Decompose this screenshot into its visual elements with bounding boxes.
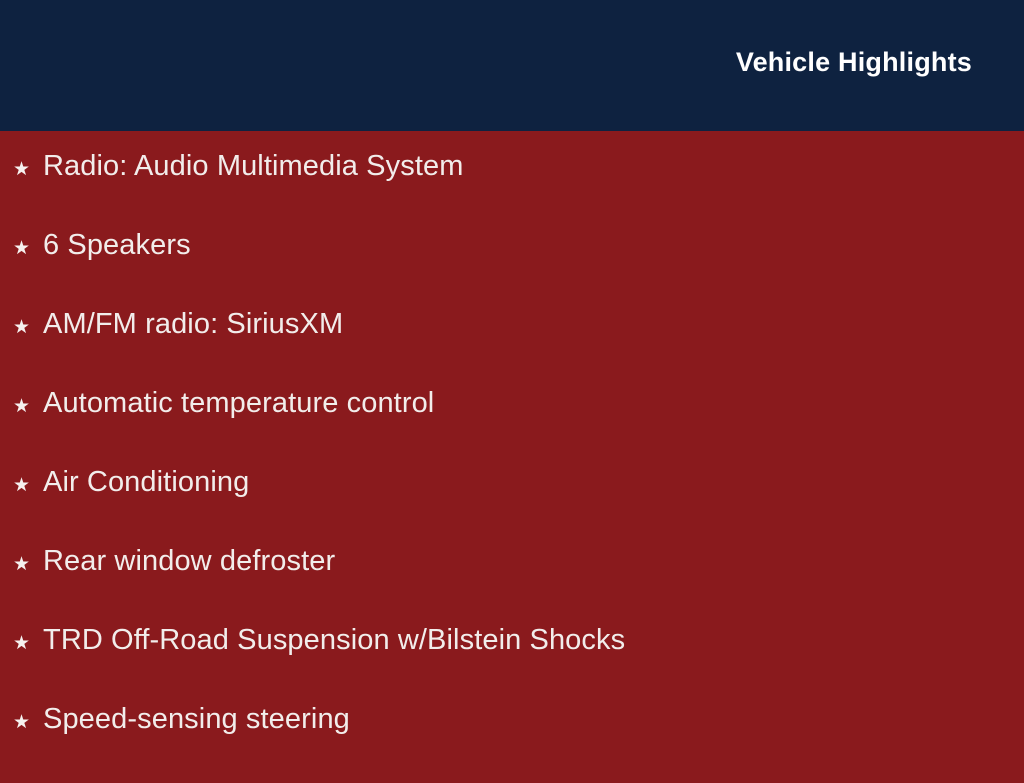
list-item-label: Air Conditioning bbox=[43, 467, 249, 497]
star-icon: ★ bbox=[13, 629, 43, 659]
slide-vehicle-highlights: Vehicle Highlights ★ Radio: Audio Multim… bbox=[0, 0, 1024, 768]
vehicle-highlights-list: ★ Radio: Audio Multimedia System ★ 6 Spe… bbox=[0, 151, 1024, 783]
list-item: ★ 6 Speakers bbox=[0, 230, 1024, 309]
list-item: ★ Air Conditioning bbox=[0, 467, 1024, 546]
list-item: ★ Radio: Audio Multimedia System bbox=[0, 151, 1024, 230]
list-item: ★ AM/FM radio: SiriusXM bbox=[0, 309, 1024, 388]
star-icon: ★ bbox=[13, 550, 43, 580]
list-item-label: Rear window defroster bbox=[43, 546, 335, 576]
list-item-label: AM/FM radio: SiriusXM bbox=[43, 309, 343, 339]
list-item: ★ Rear window defroster bbox=[0, 546, 1024, 625]
star-icon: ★ bbox=[13, 708, 43, 738]
star-icon: ★ bbox=[13, 471, 43, 501]
slide-body: ★ Radio: Audio Multimedia System ★ 6 Spe… bbox=[0, 131, 1024, 768]
list-item-label: 6 Speakers bbox=[43, 230, 191, 260]
list-item: ★ TRD Off-Road Suspension w/Bilstein Sho… bbox=[0, 625, 1024, 704]
list-item-label: Automatic temperature control bbox=[43, 388, 434, 418]
list-item: ★ Automatic temperature control bbox=[0, 388, 1024, 467]
list-item: ★ Speed-sensing steering bbox=[0, 704, 1024, 783]
slide-header-band: Vehicle Highlights bbox=[0, 0, 1024, 131]
page-title: Vehicle Highlights bbox=[736, 45, 972, 79]
star-icon: ★ bbox=[13, 313, 43, 343]
list-item-label: Speed-sensing steering bbox=[43, 704, 350, 734]
star-icon: ★ bbox=[13, 234, 43, 264]
list-item-label: Radio: Audio Multimedia System bbox=[43, 151, 463, 181]
star-icon: ★ bbox=[13, 155, 43, 185]
star-icon: ★ bbox=[13, 392, 43, 422]
list-item-label: TRD Off-Road Suspension w/Bilstein Shock… bbox=[43, 625, 625, 655]
